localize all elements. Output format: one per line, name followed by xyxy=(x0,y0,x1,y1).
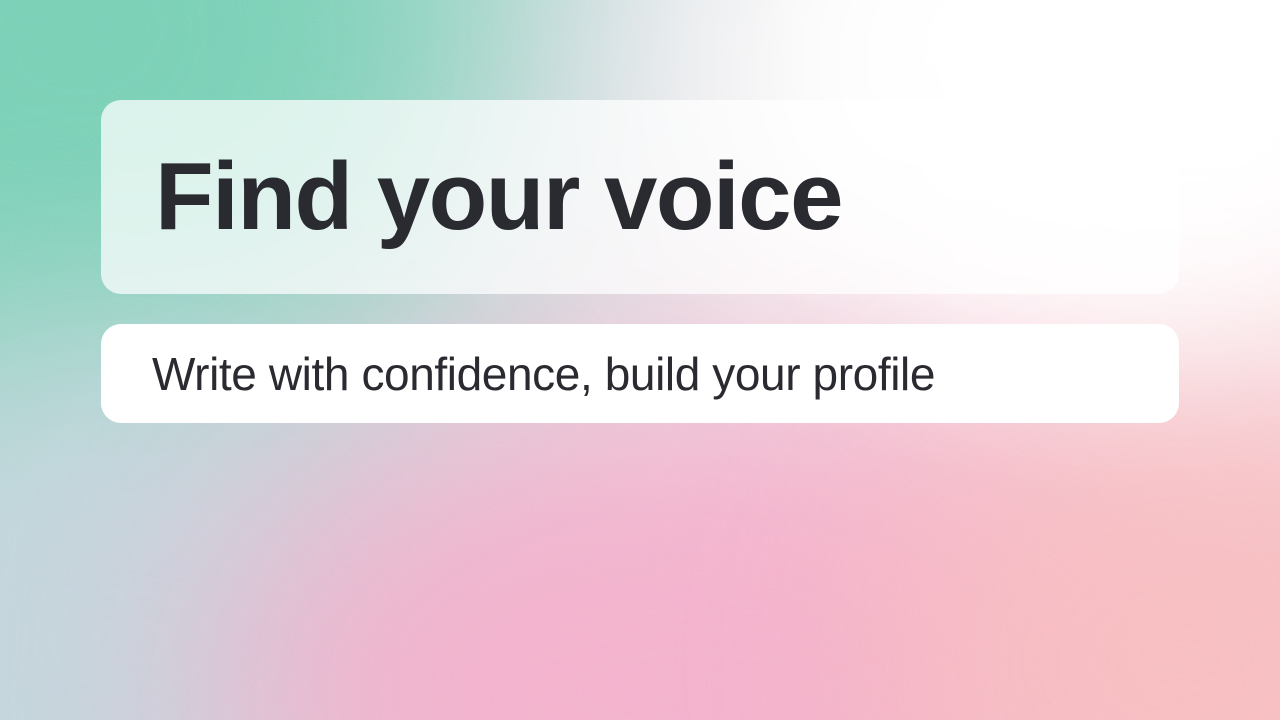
headline-card: Find your voice xyxy=(101,100,1179,294)
page-title: Find your voice xyxy=(155,149,842,245)
text-stack: Find your voice Write with confidence, b… xyxy=(101,100,1179,423)
page-subtitle: Write with confidence, build your profil… xyxy=(152,351,935,397)
subtitle-card: Write with confidence, build your profil… xyxy=(101,324,1179,423)
slide-canvas: Find your voice Write with confidence, b… xyxy=(0,0,1280,720)
